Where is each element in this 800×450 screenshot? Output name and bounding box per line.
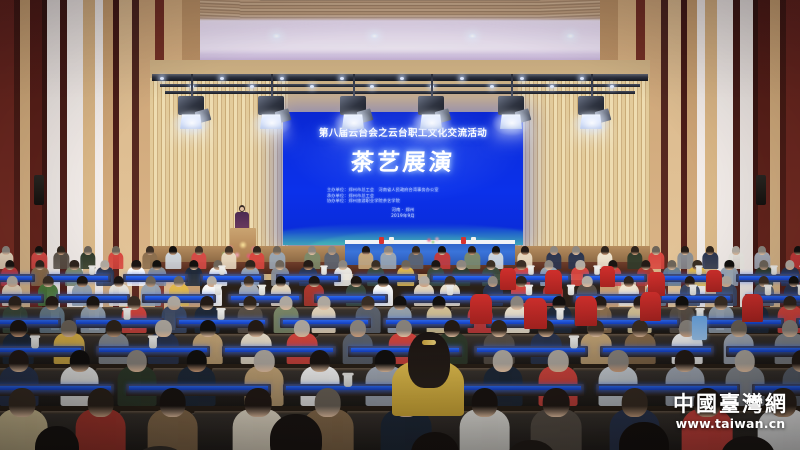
audience-member-head [351,276,362,287]
paper-cup [89,266,95,274]
cup-lid [30,335,40,338]
audience-member-head [275,260,284,270]
audience-member-head [244,296,257,310]
audience-member-head [491,320,507,337]
audience-member-head [244,276,255,287]
ceiling-downlight [468,33,477,39]
audience-member-head [77,276,88,287]
audience-member-head [432,296,445,310]
audience-member-head [621,388,648,417]
truss-indicator-light [220,77,224,80]
audience-member-head [572,246,580,255]
wall-speaker [756,175,766,205]
audience-member-head [783,296,796,310]
audience-member-head [279,296,292,310]
audience-member-head [362,246,370,255]
watermark-site-name: 中國臺灣網 [673,394,788,415]
lighting-truss-tertiary [165,91,635,94]
audience-member-head [667,260,676,270]
ceiling-downlight [566,33,575,39]
ceiling-downlight [370,33,379,39]
audience-member-head [681,246,689,255]
audience-member-head [674,350,694,372]
foreground-audience-member [392,432,478,450]
cup-lid [214,284,222,287]
cup-lid [696,307,705,310]
audience-member-head [652,246,660,255]
cup-lid [696,265,704,267]
truss-indicator-light [340,77,344,80]
audience-member-head [511,296,524,310]
audience-member-head [457,260,466,270]
cup-lid [555,307,564,310]
audience-member-head [675,296,688,310]
paper-cup [215,286,221,296]
truss-indicator-light [580,77,584,80]
audience-member-head [273,246,281,255]
audience-member-head [731,320,747,337]
audience-member-body [166,252,181,269]
truss-indicator-light [550,85,554,88]
cup-lid [593,265,601,267]
audience-member-head [245,388,272,417]
volunteer-red-vest [524,298,547,329]
cup-lid [342,372,353,376]
truss-indicator-light [160,77,164,80]
audience-member-head [468,246,476,255]
foreground-audience-member [250,414,342,450]
audience-member [345,320,371,368]
audience-member [313,296,334,336]
paper-cup [344,374,353,387]
audience-member-head [86,296,99,310]
led-backdrop-screen: 第八届云台会之云台职工文化交流活动 茶艺展演 主办单位：郑州市总工会 河南省人民… [283,112,523,245]
audience-member-head [419,276,430,287]
audience-member-head [294,320,310,337]
audience-member-head [43,276,54,287]
truss-indicator-light [490,85,494,88]
audience-member-head [623,276,634,287]
audience-member-head [189,260,198,270]
light-flare [172,110,212,136]
cup-lid [689,284,697,287]
truss-indicator-light [370,85,374,88]
cup-lid [566,284,574,287]
audience-member-head [632,320,648,337]
stage-light-fixture [178,96,206,138]
cup-lid [527,265,535,267]
audience-member-head [186,350,206,372]
audience-member-head [721,276,732,287]
audience-member-head [2,246,10,255]
cup-lid [446,284,454,287]
audience-member-head [101,260,110,270]
audience-member-head [304,260,313,270]
stage-light-fixture [418,96,446,138]
phone-screen [692,316,707,340]
audience-member [186,260,201,289]
audience-member-head [225,246,233,255]
audience-member-head [393,296,406,310]
truss-indicator-light [280,77,284,80]
light-flare [252,110,292,136]
cup-lid [257,284,265,287]
audience-member-head [253,246,261,255]
foreground-audience-member [486,440,576,450]
led-credit-line-cohost: 协办单位：郑州旅游职业学院茶艺学院 [327,198,487,204]
paper-cup [570,337,578,349]
audience-member-head [199,320,215,337]
foreground-member-head [411,432,459,450]
cup-lid [148,335,158,338]
audience-member-yellow-top [392,332,464,404]
audience-member-head [308,246,316,255]
lighting-truss-secondary [160,84,640,87]
audience-member-head [758,246,766,255]
led-event-headline: 茶艺展演 [283,143,523,177]
audience-member-head [248,320,264,337]
paper-cup [556,309,563,320]
audience-member-head [412,246,420,255]
table-flower-arrangement [423,234,443,245]
audience-member-head [246,260,255,270]
audience-member-head [431,260,440,270]
light-flare [334,110,374,136]
audience-member-head [87,388,114,417]
audience-member-head [309,350,329,372]
audience-member-head [384,246,392,255]
foreground-member-head [506,440,556,450]
audience-member-head [548,350,568,372]
audience-member-head [195,246,203,255]
light-drop-rod [431,74,433,98]
audience-member-head [338,260,347,270]
audience-member-head [9,388,36,417]
foreground-audience-member [18,426,96,450]
audience-member-head [401,260,410,270]
truss-indicator-light [610,85,614,88]
cup-lid [320,265,328,267]
cup-lid [770,265,778,267]
volunteer-red-vest [575,296,597,326]
table-item [471,237,476,244]
stage-light-fixture [578,96,606,138]
audience-member-head [378,276,389,287]
audience-member-head [492,350,512,372]
audience-member-head [314,388,341,417]
paper-cup [696,266,702,274]
audience-member-head [715,296,728,310]
light-drop-rod [511,74,513,98]
cup-lid [88,265,96,267]
audience-member-head [545,260,554,270]
audience-member-head [781,320,797,337]
audience-member-head [521,246,529,255]
audience-member-head [732,246,740,255]
cup-lid [763,284,771,287]
audience-member [55,246,68,272]
paper-cup [690,286,696,296]
volunteer-red-vest [742,294,763,322]
audience-member-head [132,260,141,270]
audience-member-head [582,276,593,287]
light-drop-rod [353,74,355,98]
audience-member-head [601,246,609,255]
audience-member [167,246,180,272]
cup-lid [216,307,225,310]
table-item [461,237,466,244]
audience-member-head [309,276,320,287]
watermark: 中國臺灣網 www.taiwan.cn [673,394,788,431]
wall-speaker [34,175,44,205]
audience-member-head [61,320,77,337]
audience-member-head [254,350,274,372]
paper-cup [217,309,224,320]
audience-member-head [517,260,526,270]
stage-light-fixture [498,96,526,138]
cup-lid [218,265,226,267]
volunteer-red-vest [545,270,562,294]
light-flare [412,110,452,136]
audience-member-head [792,350,800,372]
paper-cup [528,266,534,274]
auditorium-photo: 第八届云台会之云台职工文化交流活动 茶艺展演 主办单位：郑州市总工会 河南省人民… [0,0,800,450]
audience-member-head [169,246,177,255]
light-flare [492,110,532,136]
audience-member-head [70,260,79,270]
audience-member [120,350,153,411]
foreground-member-head [619,422,668,450]
ceiling-downlight [272,33,281,39]
chair-top-rail [332,307,359,310]
audience-member-head [145,276,156,287]
table-item [389,237,394,244]
audience-member-head [328,246,336,255]
audience-member-head [706,246,714,255]
audience-member-head [9,296,22,310]
audience-member-head [543,388,570,417]
foreground-member-head [270,414,322,450]
audience-member-head [84,246,92,255]
paper-cup [321,266,327,274]
audience-member-head [608,350,628,372]
cup-lid [525,284,533,287]
presenter-torso [235,212,249,229]
paper-cup [219,266,225,274]
cup-lid [122,307,131,310]
audience-member-head [486,260,495,270]
audience-member-head [173,276,184,287]
volunteer-red-vest [500,268,516,290]
foreground-member-head [133,446,187,450]
audience-member-head [9,350,29,372]
audience-member-head [492,246,500,255]
volunteer-red-vest [600,266,615,287]
light-drop-rod [591,74,593,98]
ceiling-cove-light [120,18,680,52]
audience-member [151,388,194,450]
paper-cup [31,337,39,349]
audience-member-head [725,260,734,270]
audience-member-head [5,260,14,270]
led-event-title: 第八届云台会之云台职工文化交流活动 [283,125,523,139]
audience-member-head [759,260,768,270]
table-item [379,237,384,244]
audience-member-head [152,260,161,270]
audience-member-head [45,296,58,310]
truss-indicator-light [520,77,524,80]
audience-member-head [112,246,120,255]
audience-member [382,246,395,272]
audience-member-head [550,246,558,255]
paper-cup [124,309,131,320]
audience-member-head [106,320,122,337]
audience-member-head [487,276,498,287]
audience-member-head [146,246,154,255]
audience-member-head [35,260,44,270]
truss-indicator-light [460,77,464,80]
paper-cup [765,286,771,296]
foreground-audience-member [700,436,796,450]
audience-member-head [35,246,43,255]
foreground-member-head [721,436,775,450]
audience-member-head [734,350,754,372]
stage-light-fixture [340,96,368,138]
audience-member-body [703,252,718,269]
foreground-audience-member [112,446,208,450]
audience-member-head [350,320,366,337]
volunteer-red-vest [470,294,492,324]
audience-member-with-phone [690,316,710,346]
audience-member-head [57,246,65,255]
light-drop-rod [271,74,273,98]
audience-member-head [126,350,146,372]
audience-member-head [438,246,446,255]
audience-member-head [159,388,186,417]
stage-light-fixture [258,96,286,138]
paper-cup [594,266,600,274]
paper-cup [258,286,264,296]
paper-cup [526,286,532,296]
truss-indicator-light [250,85,254,88]
audience-member-head [471,388,498,417]
audience-member-head [167,296,180,310]
paper-cup [771,266,777,274]
light-flare [572,110,612,136]
audience-member-head [69,350,89,372]
audience-member-head [576,260,585,270]
hair-clip [422,340,436,345]
audience-member-head [631,246,639,255]
audience-member-head [641,260,650,270]
audience-member-head [275,276,286,287]
audience-member-head [10,320,26,337]
audience-member-head [362,296,375,310]
paper-cup [149,337,157,349]
audience-member-head [200,296,213,310]
audience-member-head [794,246,800,255]
watermark-url: www.taiwan.cn [673,418,788,431]
volunteer-red-vest [640,292,661,321]
audience-member [704,246,717,272]
light-drop-rod [191,74,193,98]
foreground-member-head [35,426,79,450]
audience-member-head [371,260,380,270]
volunteer-red-vest [706,270,722,292]
truss-indicator-light [400,77,404,80]
audience-member-head [7,276,18,287]
paper-cup [447,286,453,296]
audience-member-head [113,276,124,287]
cup-lid [569,335,579,338]
truss-indicator-light [310,85,314,88]
paper-cup [567,286,573,296]
audience-member-head [785,260,794,270]
audience-member-head [317,296,330,310]
